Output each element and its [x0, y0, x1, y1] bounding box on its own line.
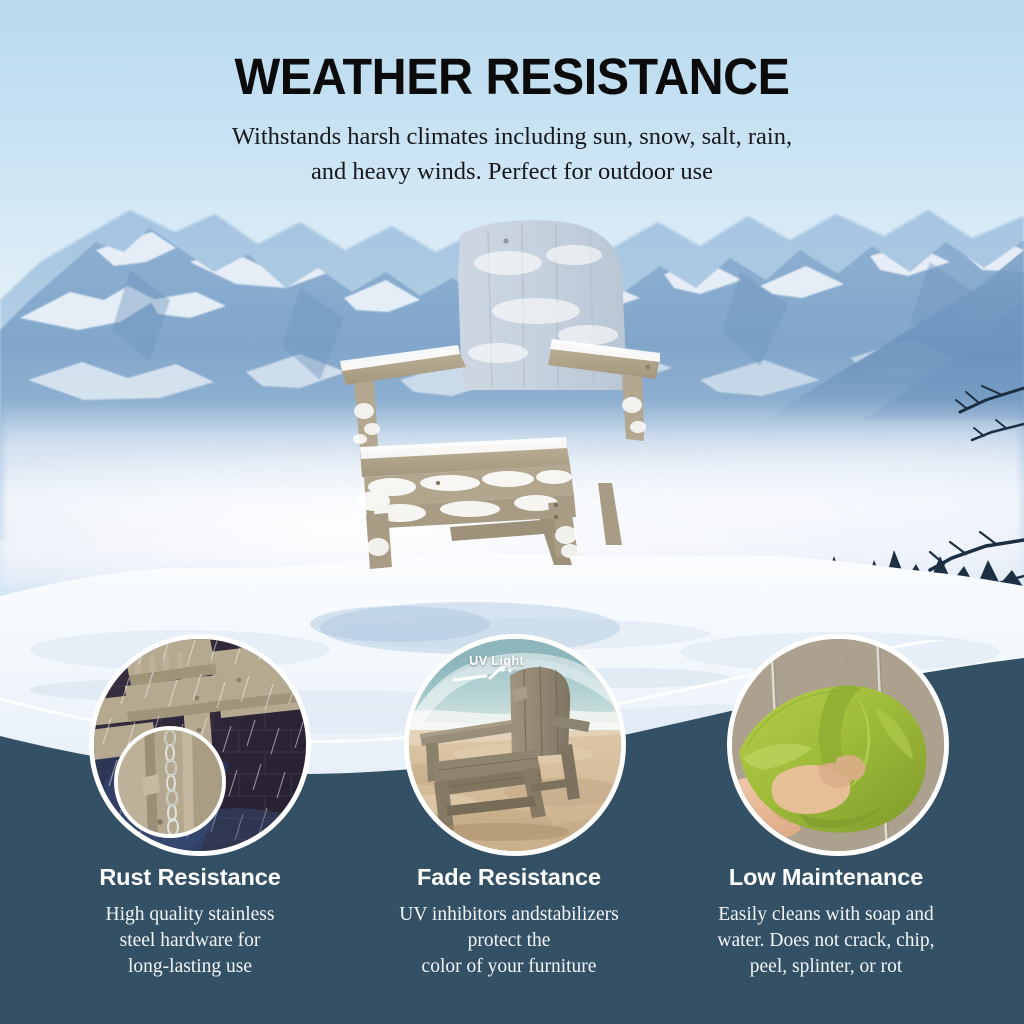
feature-body-line-1: UV inhibitors andstabilizers	[339, 902, 679, 928]
feature-body-line-3: color of your furniture	[339, 954, 679, 980]
page-subtitle: Withstands harsh climates including sun,…	[0, 120, 1024, 190]
stainless-chain-closeup-photo	[114, 726, 226, 838]
subtitle-line-2: and heavy winds. Perfect for outdoor use	[0, 155, 1024, 190]
feature-text-rust-resistance: Rust Resistance High quality stainless s…	[20, 864, 360, 980]
feature-body-line-3: peel, splinter, or rot	[656, 954, 996, 980]
feature-body-line-3: long-lasting use	[20, 954, 360, 980]
page-title: WEATHER RESISTANCE	[26, 50, 999, 104]
hand-wiping-with-green-cloth-photo	[727, 634, 949, 856]
feature-body-line-1: High quality stainless	[20, 902, 360, 928]
feature-text-fade-resistance: Fade Resistance UV inhibitors andstabili…	[339, 864, 679, 980]
feature-body-line-2: steel hardware for	[20, 928, 360, 954]
feature-body-line-1: Easily cleans with soap and	[656, 902, 996, 928]
feature-body-low-maintenance: Easily cleans with soap and water. Does …	[656, 902, 996, 980]
feature-title-low-maintenance: Low Maintenance	[656, 864, 996, 891]
subtitle-line-1: Withstands harsh climates including sun,…	[232, 123, 792, 150]
infographic-canvas: WEATHER RESISTANCE Withstands harsh clim…	[0, 0, 1024, 1024]
feature-photo-fade-resistance: UV Light	[404, 634, 626, 856]
feature-text-low-maintenance: Low Maintenance Easily cleans with soap …	[656, 864, 996, 980]
feature-body-line-2: water. Does not crack, chip,	[656, 928, 996, 954]
feature-inset-photo-stainless-chain	[114, 726, 226, 838]
uv-light-label: UV Light	[469, 653, 524, 668]
feature-body-line-2: protect the	[339, 928, 679, 954]
feature-body-fade-resistance: UV inhibitors andstabilizers protect the…	[339, 902, 679, 980]
feature-photo-low-maintenance	[727, 634, 949, 856]
feature-body-rust-resistance: High quality stainless steel hardware fo…	[20, 902, 360, 980]
hero-adirondack-chair-in-snow	[330, 215, 670, 585]
feature-title-fade-resistance: Fade Resistance	[339, 864, 679, 891]
feature-title-rust-resistance: Rust Resistance	[20, 864, 360, 891]
